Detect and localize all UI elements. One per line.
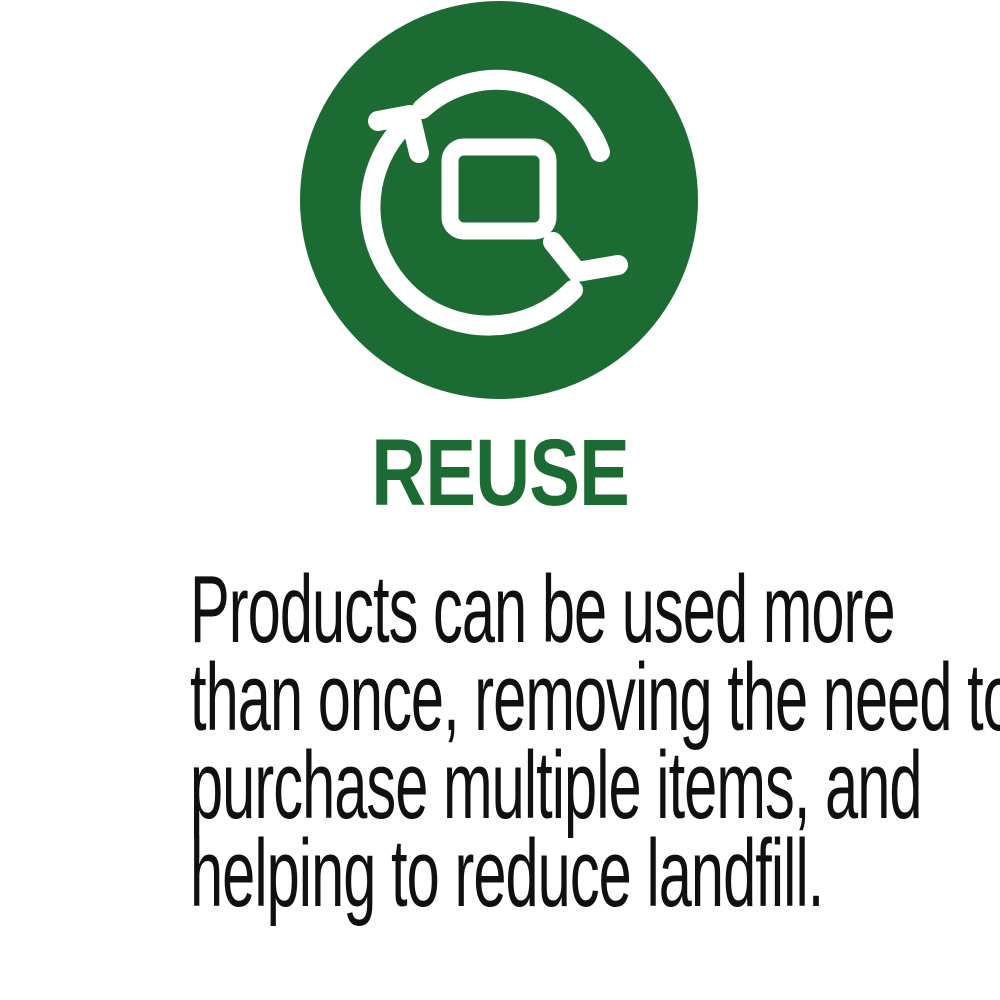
heading-label: REUSE [371,426,629,521]
body-copy: Products can be used more than once, rem… [0,566,1000,918]
reuse-cycle-icon [300,1,698,399]
body-line-4: helping to reduce landfill. [190,830,810,918]
page-title: REUSE [0,426,1000,521]
body-line-3: purchase multiple items, and [190,742,810,830]
reuse-icon-badge [300,1,698,399]
reuse-infographic-card: REUSE Products can be used more than onc… [0,0,1000,1000]
body-line-1: Products can be used more [190,566,810,654]
badge-circle [300,1,698,399]
body-line-2: than once, removing the need to [190,654,810,742]
